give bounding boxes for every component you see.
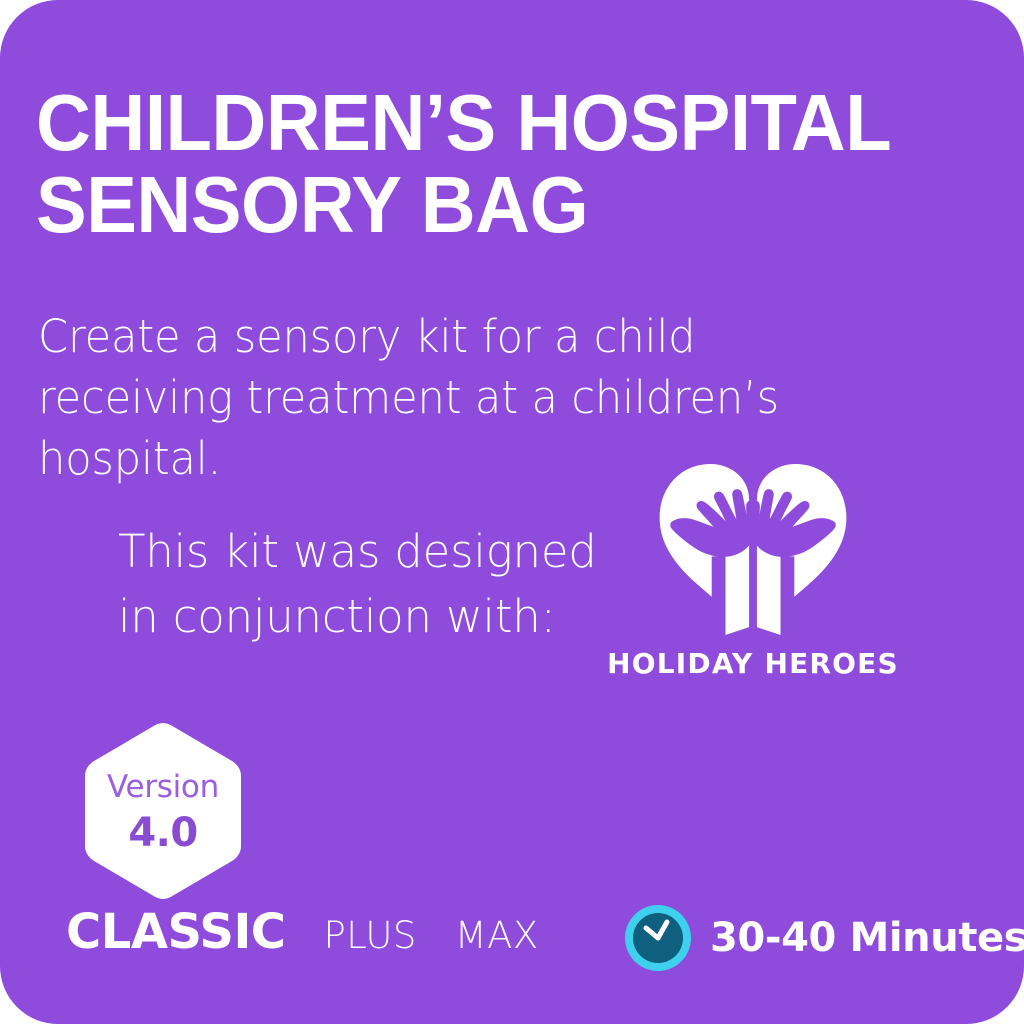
tier-selector: CLASSIC PLUS MAX [66,908,539,956]
tier-option-plus[interactable]: PLUS [324,917,417,954]
partner-logo: HOLIDAY HEROES [628,462,878,680]
page-title: CHILDREN’S HOSPITAL SENSORY BAG [36,82,986,245]
version-badge-text: Version 4.0 [82,720,244,902]
version-badge: Version 4.0 [82,720,244,902]
version-number: 4.0 [128,810,197,856]
partner-name: HOLIDAY HEROES [607,647,899,680]
page-title-line-1: CHILDREN’S HOSPITAL [36,82,939,164]
tier-option-max[interactable]: MAX [455,917,539,954]
page-title-line-2: SENSORY BAG [36,164,939,246]
tier-option-classic[interactable]: CLASSIC [66,908,286,956]
heart-with-hands-icon [653,462,853,637]
partnership-intro-text: This kit was designed in conjunction wit… [118,520,618,650]
clock-icon [622,902,694,974]
duration-indicator: 30-40 Minutes [622,902,1024,974]
duration-label: 30-40 Minutes [710,915,1024,961]
version-label: Version [107,770,219,804]
kit-info-card: CHILDREN’S HOSPITAL SENSORY BAG Create a… [0,0,1024,1024]
